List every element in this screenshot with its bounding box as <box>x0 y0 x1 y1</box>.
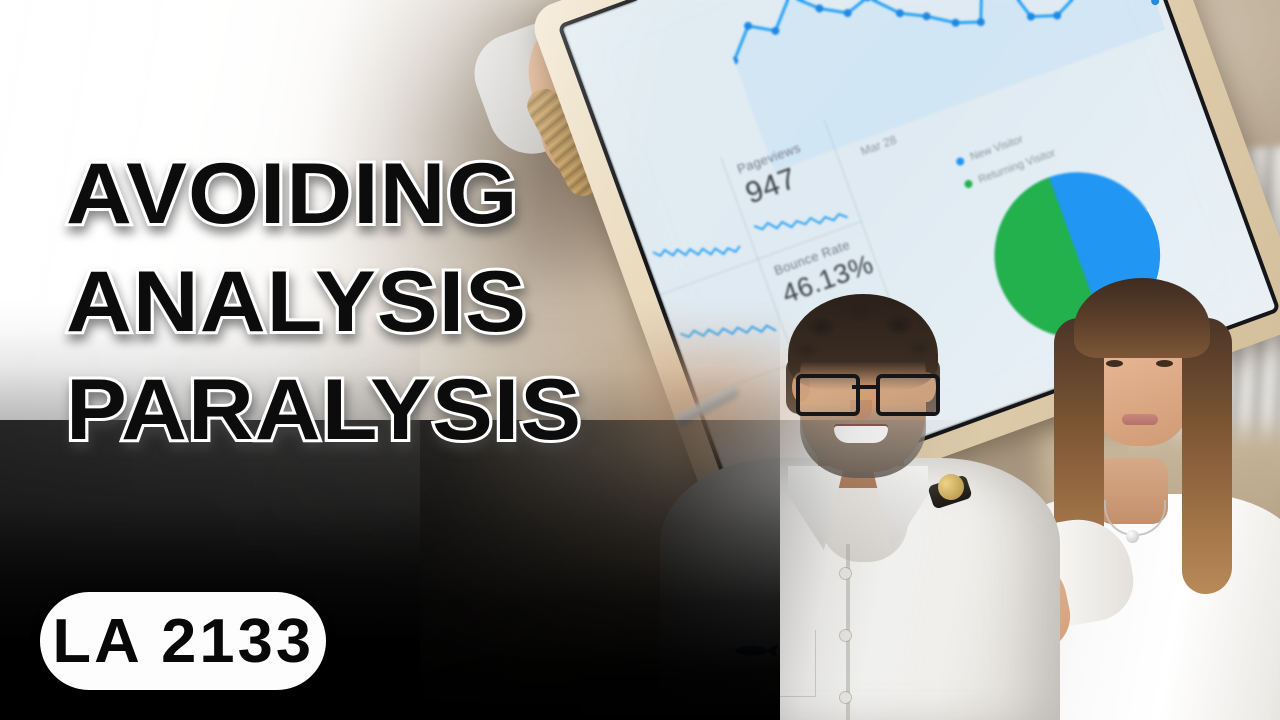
title-line-3: PARALYSIS <box>66 356 744 464</box>
video-thumbnail: Mar 28 analytics for... Pageviews 947 Bo… <box>0 0 1280 720</box>
episode-badge-label: LA 2133 <box>52 606 314 677</box>
episode-badge: LA 2133 <box>40 592 326 690</box>
title-block: AVOIDING ANALYSIS PARALYSIS <box>66 140 706 464</box>
title-line-1: AVOIDING <box>66 140 744 248</box>
title-line-2: ANALYSIS <box>66 248 744 356</box>
